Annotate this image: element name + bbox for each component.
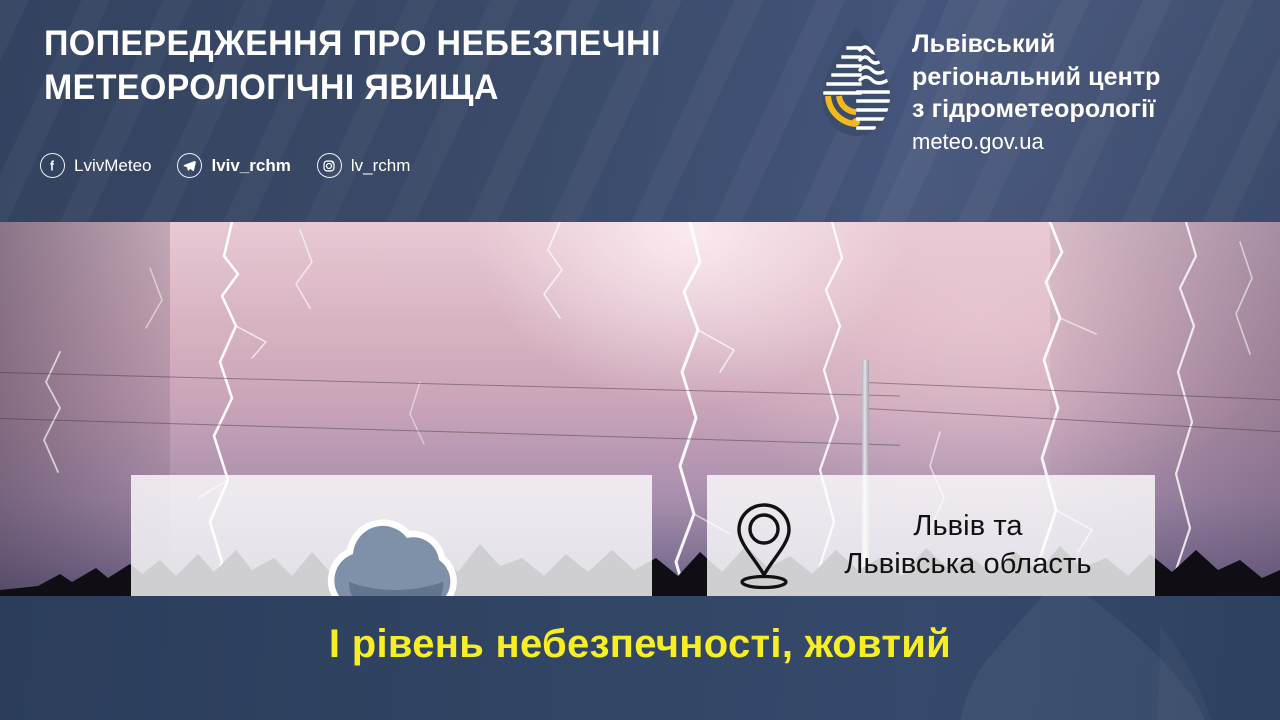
area-label-line1: Львів та (795, 507, 1141, 545)
telegram-icon (177, 153, 202, 178)
social-link-instagram[interactable]: lv_rchm (317, 153, 411, 178)
area-panel: Львів та Львівська область (707, 475, 1155, 604)
social-link-telegram[interactable]: lviv_rchm (177, 153, 290, 178)
instagram-icon (317, 153, 342, 178)
footer-bar: І рівень небезпечності, жовтий (0, 596, 1280, 720)
social-handle-telegram: lviv_rchm (211, 157, 290, 174)
social-links: LvivMeteo lviv_rchm lv (40, 153, 436, 178)
area-label: Львів та Львівська область (795, 507, 1155, 584)
social-handle-facebook: LvivMeteo (74, 157, 151, 174)
brand-website[interactable]: meteo.gov.ua (912, 128, 1161, 157)
social-handle-instagram: lv_rchm (351, 157, 411, 174)
brand-block: Львівський регіональний центр з гідромет… (818, 26, 1161, 156)
thunderstorm-hail-icon (299, 510, 485, 604)
brand-line-2: регіональний центр (912, 61, 1161, 94)
area-label-line2: Львівська область (795, 545, 1141, 583)
infographic-root: ПОПЕРЕДЖЕННЯ ПРО НЕБЕЗПЕЧНІ МЕТЕОРОЛОГІЧ… (0, 0, 1280, 720)
brand-line-3: з гідрометеорології (912, 93, 1161, 126)
location-pin-icon (733, 499, 795, 591)
storm-photo-background: Грози, місцями град Львів та Львівська о… (0, 222, 1280, 604)
phenomenon-panel: Грози, місцями град (131, 475, 652, 604)
warning-level-banner: І рівень небезпечності, жовтий (0, 622, 1280, 667)
social-link-facebook[interactable]: LvivMeteo (40, 153, 151, 178)
droplet-logo-icon (818, 26, 894, 138)
facebook-icon (40, 153, 65, 178)
page-title: ПОПЕРЕДЖЕННЯ ПРО НЕБЕЗПЕЧНІ МЕТЕОРОЛОГІЧ… (44, 22, 801, 111)
header-bar: ПОПЕРЕДЖЕННЯ ПРО НЕБЕЗПЕЧНІ МЕТЕОРОЛОГІЧ… (0, 0, 1280, 222)
brand-line-1: Львівський (912, 28, 1161, 61)
